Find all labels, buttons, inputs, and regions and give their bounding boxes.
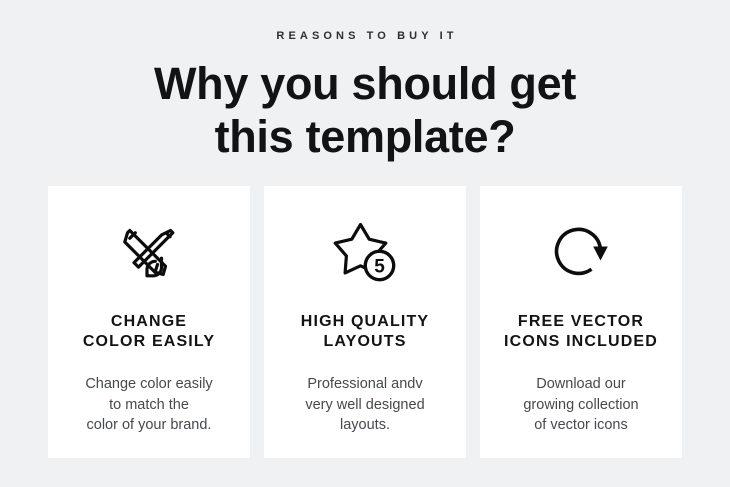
page-title-line-2: this template? (0, 110, 730, 163)
feature-card-body-line-1: Change color easily (85, 374, 212, 395)
feature-card[interactable]: FREE VECTOR ICONS INCLUDED Download our … (480, 186, 682, 458)
feature-card-body-line-3: of vector icons (523, 415, 638, 436)
page-title-line-1: Why you should get (0, 57, 730, 110)
feature-card-title: CHANGE COLOR EASILY (83, 312, 215, 352)
star-badge-value: 5 (374, 256, 385, 277)
feature-card[interactable]: CHANGE COLOR EASILY Change color easily … (48, 186, 250, 458)
feature-card-title-line-2: COLOR EASILY (83, 332, 215, 352)
feature-card-body: Professional andv very well designed lay… (305, 374, 424, 436)
feature-card-title-line-1: FREE VECTOR (504, 312, 658, 332)
feature-card-title: HIGH QUALITY LAYOUTS (301, 312, 429, 352)
feature-card-body-line-3: layouts. (305, 415, 424, 436)
feature-card-title-line-2: LAYOUTS (301, 332, 429, 352)
feature-card-body-line-1: Download our (523, 374, 638, 395)
pencil-paintbrush-icon (116, 219, 182, 285)
feature-card-title-line-2: ICONS INCLUDED (504, 332, 658, 352)
refresh-circular-arrow-icon (548, 219, 614, 285)
feature-card-body-line-1: Professional andv (305, 374, 424, 395)
section-eyebrow: REASONS TO BUY IT (0, 28, 730, 44)
section-header: REASONS TO BUY IT Why you should get thi… (0, 28, 730, 193)
feature-card-body: Download our growing collection of vecto… (523, 374, 638, 436)
feature-card-title: FREE VECTOR ICONS INCLUDED (504, 312, 658, 352)
feature-card-list: CHANGE COLOR EASILY Change color easily … (48, 186, 682, 458)
landing-features-section: REASONS TO BUY IT Why you should get thi… (0, 0, 730, 487)
feature-card-body: Change color easily to match the color o… (85, 374, 212, 436)
feature-card-body-line-2: to match the (85, 395, 212, 416)
page-title: Why you should get this template? (0, 57, 730, 163)
feature-card-title-line-1: CHANGE (83, 312, 215, 332)
feature-card-body-line-2: growing collection (523, 395, 638, 416)
feature-card[interactable]: 5 HIGH QUALITY LAYOUTS Professional andv… (264, 186, 466, 458)
star-rating-five-icon: 5 (330, 219, 400, 285)
feature-card-body-line-3: color of your brand. (85, 415, 212, 436)
feature-card-body-line-2: very well designed (305, 395, 424, 416)
feature-card-title-line-1: HIGH QUALITY (301, 312, 429, 332)
